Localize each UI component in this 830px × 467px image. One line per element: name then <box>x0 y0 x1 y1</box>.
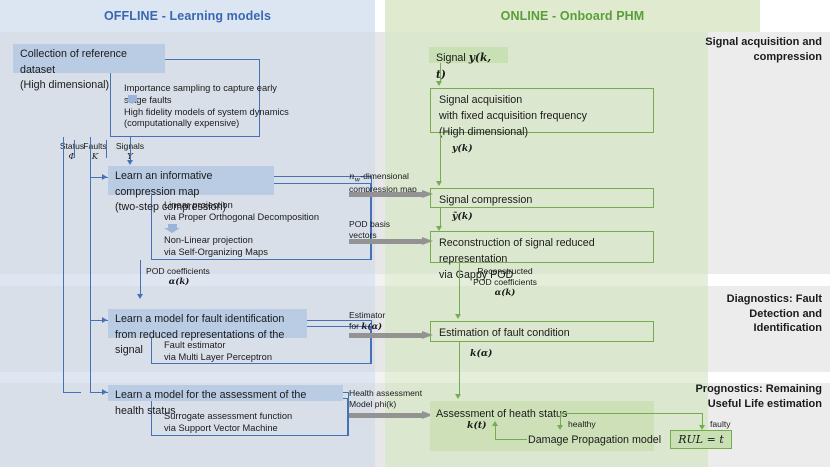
stage-label-2-text: Diagnostics: Fault Detection and Identif… <box>727 293 822 334</box>
stage-label-3-text: Prognostics: Remaining Useful Life estim… <box>695 383 822 410</box>
transfer-arrow-pod-basis <box>349 237 433 246</box>
estimation-to-assessment-line <box>459 342 460 396</box>
compression-to-reconstruction-line <box>440 208 441 228</box>
tap-divider-1 <box>74 140 75 158</box>
label-faulty: faulty <box>710 419 731 430</box>
block2-title-box[interactable]: Learn a model for fault identification f… <box>108 309 307 338</box>
acquisition-to-compression-line <box>440 133 441 183</box>
estimation-box[interactable]: Estimation of fault condition <box>430 321 654 342</box>
edge-label-kalpha-text: k(α) <box>470 348 492 359</box>
transfer-arrow-estimator <box>349 331 433 340</box>
signal-to-acquisition-line <box>440 63 441 83</box>
block1-detail-line3: Non-Linear projection <box>164 234 253 246</box>
arrow-acquisition-to-compression <box>436 181 442 186</box>
edge-reconstructed-line2: POD coefficients <box>463 277 547 288</box>
offline-header-title: OFFLINE - Learning models <box>0 0 375 32</box>
label-faulty-text: faulty <box>710 419 731 429</box>
transfer-1-post: -dimensional <box>360 171 409 181</box>
compression-line1: Signal compression <box>439 192 645 208</box>
arrow-to-block1 <box>102 174 107 180</box>
signals-y-line <box>130 137 131 161</box>
acquisition-line1: Signal acquisition <box>439 92 645 108</box>
transfer-1-line1: nw-dimensional <box>349 171 427 184</box>
transfer-2-line1: POD basis <box>349 219 427 230</box>
bus-status-vertical <box>63 137 64 392</box>
edge-label-yk-text: y(k) <box>452 143 473 154</box>
arrow-estimation-to-assessment <box>455 394 461 399</box>
rul-text: RUL = t <box>678 432 724 448</box>
edge-reconstructed-line3: α(k) <box>463 288 547 299</box>
block3-title-box[interactable]: Learn a model for the assessment of the … <box>108 385 343 401</box>
transfer-label-health-model: Health assessment Model phi(k) <box>349 388 433 410</box>
signal-input-box[interactable]: Signal y(k, t) <box>429 47 508 63</box>
block1-detail-line1: Linear projection <box>164 199 233 211</box>
bus-status-horizontal <box>63 392 81 393</box>
block3-detail-line2: via Support Vector Machine <box>164 422 278 434</box>
dataset-detail-line3-text: (computationally expensive) <box>124 118 239 128</box>
acquisition-box[interactable]: Signal acquisition with fixed acquisitio… <box>430 88 654 133</box>
transfer-label-estimator: Estimator for k(α) <box>349 310 427 333</box>
stage-label-1-text: Signal acquisition and compression <box>705 36 822 63</box>
block2-detail-line2: via Multi Layer Perceptron <box>164 351 272 363</box>
dataset-detail-line1: Importance sampling to capture early sta… <box>124 82 294 106</box>
block3-detail-line2-text: via Support Vector Machine <box>164 423 278 433</box>
transfer-4-line2: Model phi(k) <box>349 399 433 410</box>
block1-detail-line4-text: via Self-Organizing Maps <box>164 247 268 257</box>
pod-coefficients-line1: POD coefficients <box>146 266 236 277</box>
arrow-reconstruction-to-estimation <box>455 314 461 319</box>
damage-propagation-model[interactable]: Damage Propagation model <box>528 434 661 446</box>
acquisition-line2: with fixed acquisition frequency <box>439 108 645 124</box>
edge-label-kt-text: k(t) <box>467 420 487 431</box>
dataset-detail-line2-text: High fidelity models of system dynamics <box>124 107 289 117</box>
arrow-pod-coeff-down <box>137 294 143 299</box>
gap-separator-2 <box>375 372 385 383</box>
rul-box[interactable]: RUL = t <box>670 430 732 449</box>
right-band-stage1 <box>708 32 830 274</box>
edge-label-kt: k(t) <box>467 420 487 432</box>
edge-label-yk: y(k) <box>452 143 473 155</box>
stage-label-prognostics: Prognostics: Remaining Useful Life estim… <box>688 382 822 411</box>
reconstruction-box[interactable]: Reconstruction of signal reduced represe… <box>430 231 654 263</box>
stage-label-diagnostics: Diagnostics: Fault Detection and Identif… <box>688 292 822 336</box>
transfer-arrow-compression-map <box>349 190 433 199</box>
feedback-horizontal <box>495 439 527 440</box>
compression-box[interactable]: Signal compression <box>430 188 654 208</box>
feedback-vertical <box>495 426 496 440</box>
arrow-feedback-up <box>492 421 498 426</box>
block3-detail-line1: Surrogate assessment function <box>164 410 292 422</box>
block2-title-line1: Learn a model for fault identification <box>115 312 301 328</box>
pod-coefficients-label: POD coefficients α(k) <box>146 266 236 288</box>
block1-detail-line4: via Self-Organizing Maps <box>164 246 268 258</box>
estimation-line1: Estimation of fault condition <box>439 325 645 341</box>
transfer-4-line1: Health assessment <box>349 388 433 399</box>
bus-faults-vertical <box>90 137 91 393</box>
block1-detail-line2-text: via Proper Orthogonal Decomposition <box>164 212 319 222</box>
reconstruction-line1: Reconstruction of signal reduced represe… <box>439 235 645 267</box>
arrow-signal-to-acquisition <box>436 81 442 86</box>
label-healthy-text: healthy <box>568 419 596 429</box>
edge-label-yhatk: ỹ(k) <box>452 211 473 223</box>
block1-detail-line3-text: Non-Linear projection <box>164 235 253 245</box>
transfer-arrow-health-model <box>349 411 433 420</box>
block2-detail-line1: Fault estimator <box>164 339 225 351</box>
arrow-to-block2 <box>102 317 107 323</box>
block1-detail-line2: via Proper Orthogonal Decomposition <box>164 211 319 223</box>
dataset-box[interactable]: Collection of reference dataset (High di… <box>13 44 165 73</box>
block2-detail-line1-text: Fault estimator <box>164 340 225 350</box>
block2-detail-line2-text: via Multi Layer Perceptron <box>164 352 272 362</box>
gap-separator-1 <box>375 274 385 286</box>
block1-title-line1: Learn an informative compression map <box>115 169 268 200</box>
label-healthy: healthy <box>568 419 596 430</box>
offline-header-label: OFFLINE - Learning models <box>104 9 271 23</box>
offline-separator-2 <box>0 372 375 383</box>
down-arrow-dataset-detail <box>124 95 141 104</box>
block1-title-box[interactable]: Learn an informative compression map (tw… <box>108 166 274 195</box>
assessment-branch-horizontal <box>560 413 703 414</box>
tap-divider-2 <box>106 140 107 158</box>
arrow-healthy-down <box>557 425 563 430</box>
dataset-box-line1: Collection of reference dataset <box>20 47 159 78</box>
edge-reconstructed-line1: Reconstructed <box>463 266 547 277</box>
arrow-to-block3 <box>102 389 107 395</box>
block3-detail-line1-text: Surrogate assessment function <box>164 411 292 421</box>
edge-label-kalpha: k(α) <box>470 348 492 360</box>
transfer-3-line1: Estimator <box>349 310 427 321</box>
arrow-signals-y-down <box>127 160 133 165</box>
damage-propagation-model-text: Damage Propagation model <box>528 434 661 446</box>
diagram-canvas: OFFLINE - Learning models ONLINE - Onboa… <box>0 0 830 467</box>
reconstruction-to-estimation-line <box>459 263 460 316</box>
edge-label-reconstructed-pod: Reconstructed POD coefficients α(k) <box>463 266 547 299</box>
acquisition-line3: (High dimensional) <box>439 124 645 140</box>
assessment-title-text: Assessment of heath status <box>436 408 567 420</box>
pod-coeff-line <box>140 260 141 295</box>
online-separator-2 <box>385 372 708 383</box>
assessment-title[interactable]: Assessment of heath status <box>436 408 567 420</box>
dataset-detail-line1-text: Importance sampling to capture early sta… <box>124 83 277 105</box>
dataset-detail-line3: (computationally expensive) <box>124 117 304 129</box>
stage-label-signal-acquisition: Signal acquisition and compression <box>700 35 822 64</box>
down-arrow-block1-detail <box>164 224 181 233</box>
online-header-title: ONLINE - Onboard PHM <box>385 0 760 32</box>
edge-label-yhatk-text: ỹ(k) <box>452 211 473 222</box>
block1-detail-line1-text: Linear projection <box>164 200 233 210</box>
online-header-label: ONLINE - Onboard PHM <box>501 9 645 23</box>
pod-coefficients-line2: α(k) <box>146 277 212 288</box>
